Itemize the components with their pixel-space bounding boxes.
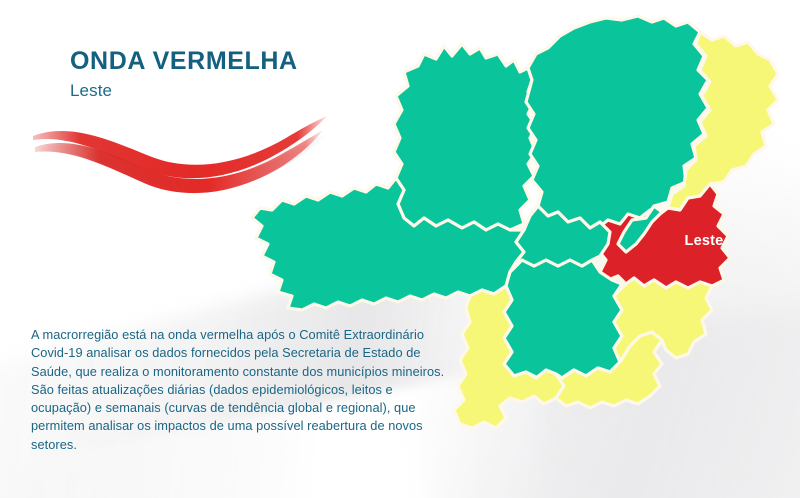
- onda-vermelha-wave-icon: [30, 110, 330, 200]
- header: ONDA VERMELHA Leste: [70, 48, 298, 101]
- description-text: A macrorregião está na onda vermelha apó…: [31, 326, 451, 454]
- page-title: ONDA VERMELHA: [70, 48, 298, 74]
- description-paragraph: A macrorregião está na onda vermelha apó…: [31, 326, 451, 454]
- page-subtitle: Leste: [70, 81, 298, 101]
- map-region-oeste[interactable]: [504, 260, 622, 378]
- map-region-noroeste[interactable]: [394, 44, 536, 230]
- map-region-leste-sul[interactable]: [614, 278, 712, 362]
- map-region-leste-label: Leste: [685, 233, 724, 249]
